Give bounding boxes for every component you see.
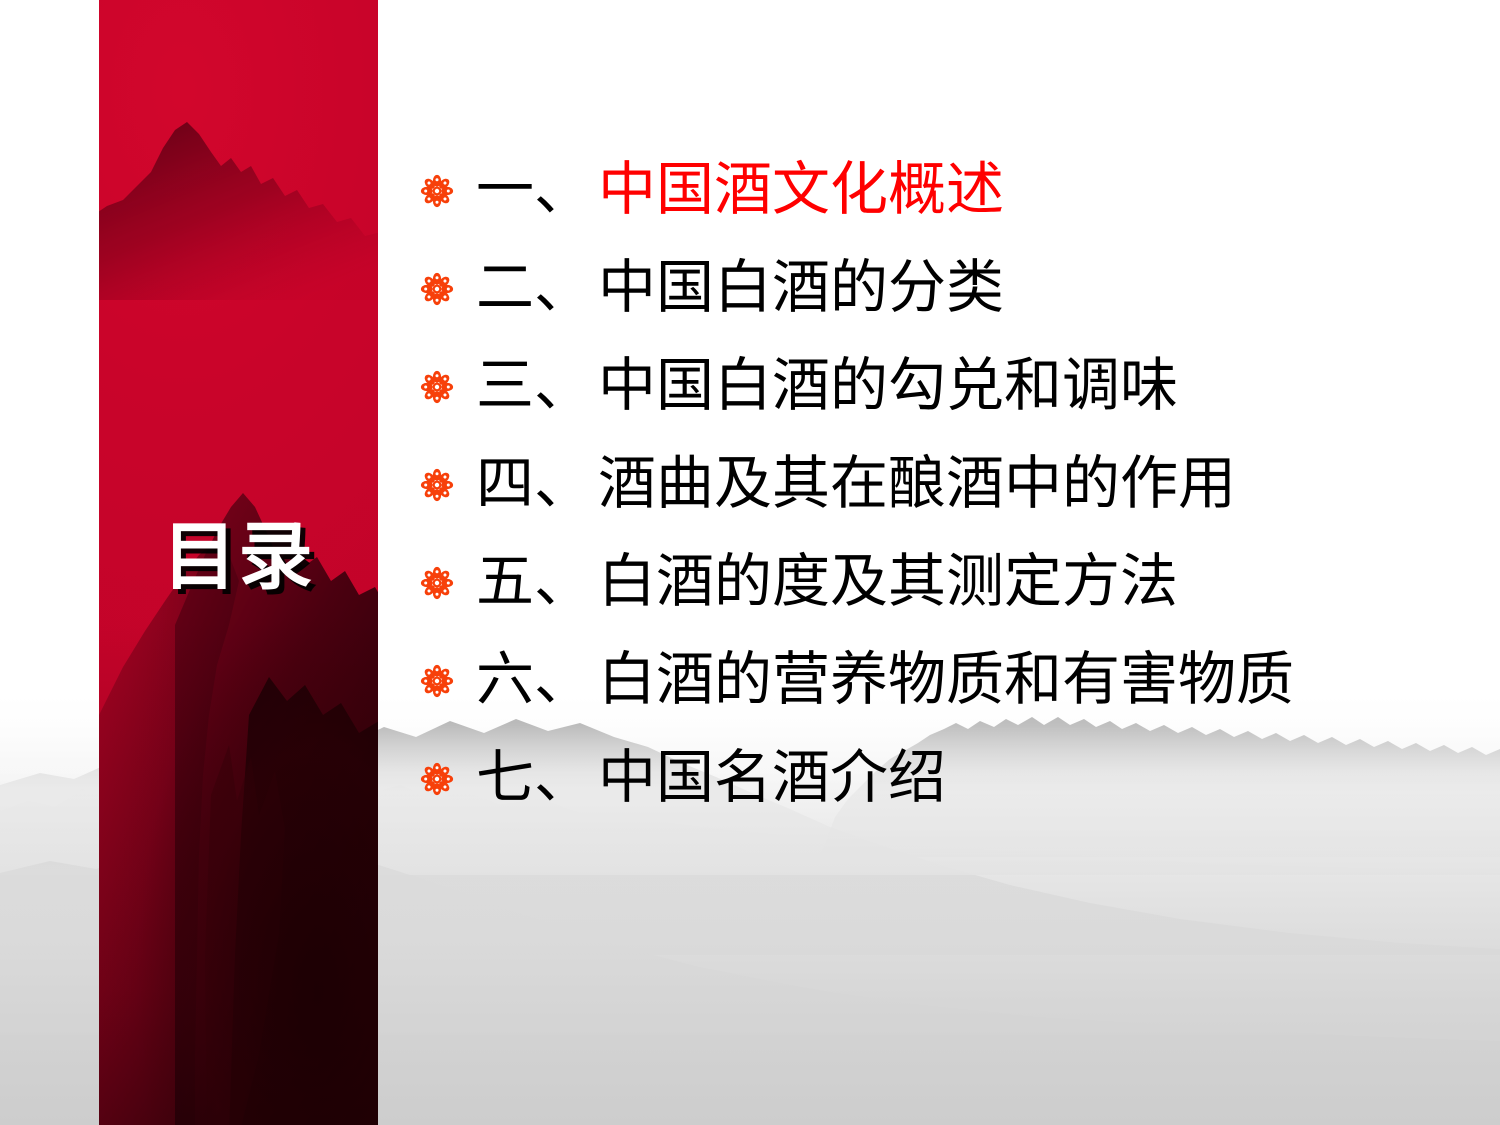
- agenda-item-label: 中国白酒的分类: [598, 253, 1004, 321]
- agenda-item-text: 六、白酒的营养物质和有害物质: [476, 650, 1294, 709]
- agenda-item-number: 二、: [476, 253, 592, 321]
- flower-asterisk-icon: [420, 762, 454, 796]
- agenda-item-2[interactable]: 二、中国白酒的分类: [420, 258, 1460, 356]
- flower-asterisk-icon: [420, 272, 454, 306]
- agenda-item-6[interactable]: 六、白酒的营养物质和有害物质: [420, 650, 1460, 748]
- agenda-item-text: 三、中国白酒的勾兑和调味: [476, 356, 1178, 415]
- agenda-item-label: 中国名酒介绍: [598, 743, 946, 811]
- agenda-item-7[interactable]: 七、中国名酒介绍: [420, 748, 1460, 846]
- agenda-list: 一、中国酒文化概述: [420, 160, 1460, 846]
- red-panel-peak-top-icon: [99, 100, 378, 300]
- agenda-item-label: 白酒的度及其测定方法: [598, 547, 1178, 615]
- agenda-item-number: 四、: [476, 449, 592, 517]
- agenda-item-text: 七、中国名酒介绍: [476, 748, 946, 807]
- agenda-item-4[interactable]: 四、酒曲及其在酿酒中的作用: [420, 454, 1460, 552]
- agenda-item-number: 五、: [476, 547, 592, 615]
- agenda-item-1[interactable]: 一、中国酒文化概述: [420, 160, 1460, 258]
- flower-asterisk-icon: [420, 174, 454, 208]
- agenda-item-text: 五、白酒的度及其测定方法: [476, 552, 1178, 611]
- agenda-item-label: 中国白酒的勾兑和调味: [598, 351, 1178, 419]
- agenda-item-text: 二、中国白酒的分类: [476, 258, 1004, 317]
- agenda-item-text: 四、酒曲及其在酿酒中的作用: [476, 454, 1236, 513]
- agenda-item-number: 六、: [476, 645, 592, 713]
- page-title: 目录: [99, 520, 378, 594]
- flower-asterisk-icon: [420, 370, 454, 404]
- flower-asterisk-icon: [420, 566, 454, 600]
- flower-asterisk-icon: [420, 664, 454, 698]
- agenda-item-number: 一、: [476, 155, 592, 223]
- agenda-item-label: 酒曲及其在酿酒中的作用: [598, 449, 1236, 517]
- agenda-item-number: 七、: [476, 743, 592, 811]
- agenda-item-5[interactable]: 五、白酒的度及其测定方法: [420, 552, 1460, 650]
- flower-asterisk-icon: [420, 468, 454, 502]
- agenda-item-3[interactable]: 三、中国白酒的勾兑和调味: [420, 356, 1460, 454]
- agenda-item-label: 中国酒文化概述: [598, 155, 1004, 223]
- agenda-item-text: 一、中国酒文化概述: [476, 160, 1004, 219]
- agenda-item-number: 三、: [476, 351, 592, 419]
- slide-canvas: 目录: [0, 0, 1500, 1125]
- agenda-item-label: 白酒的营养物质和有害物质: [598, 645, 1294, 713]
